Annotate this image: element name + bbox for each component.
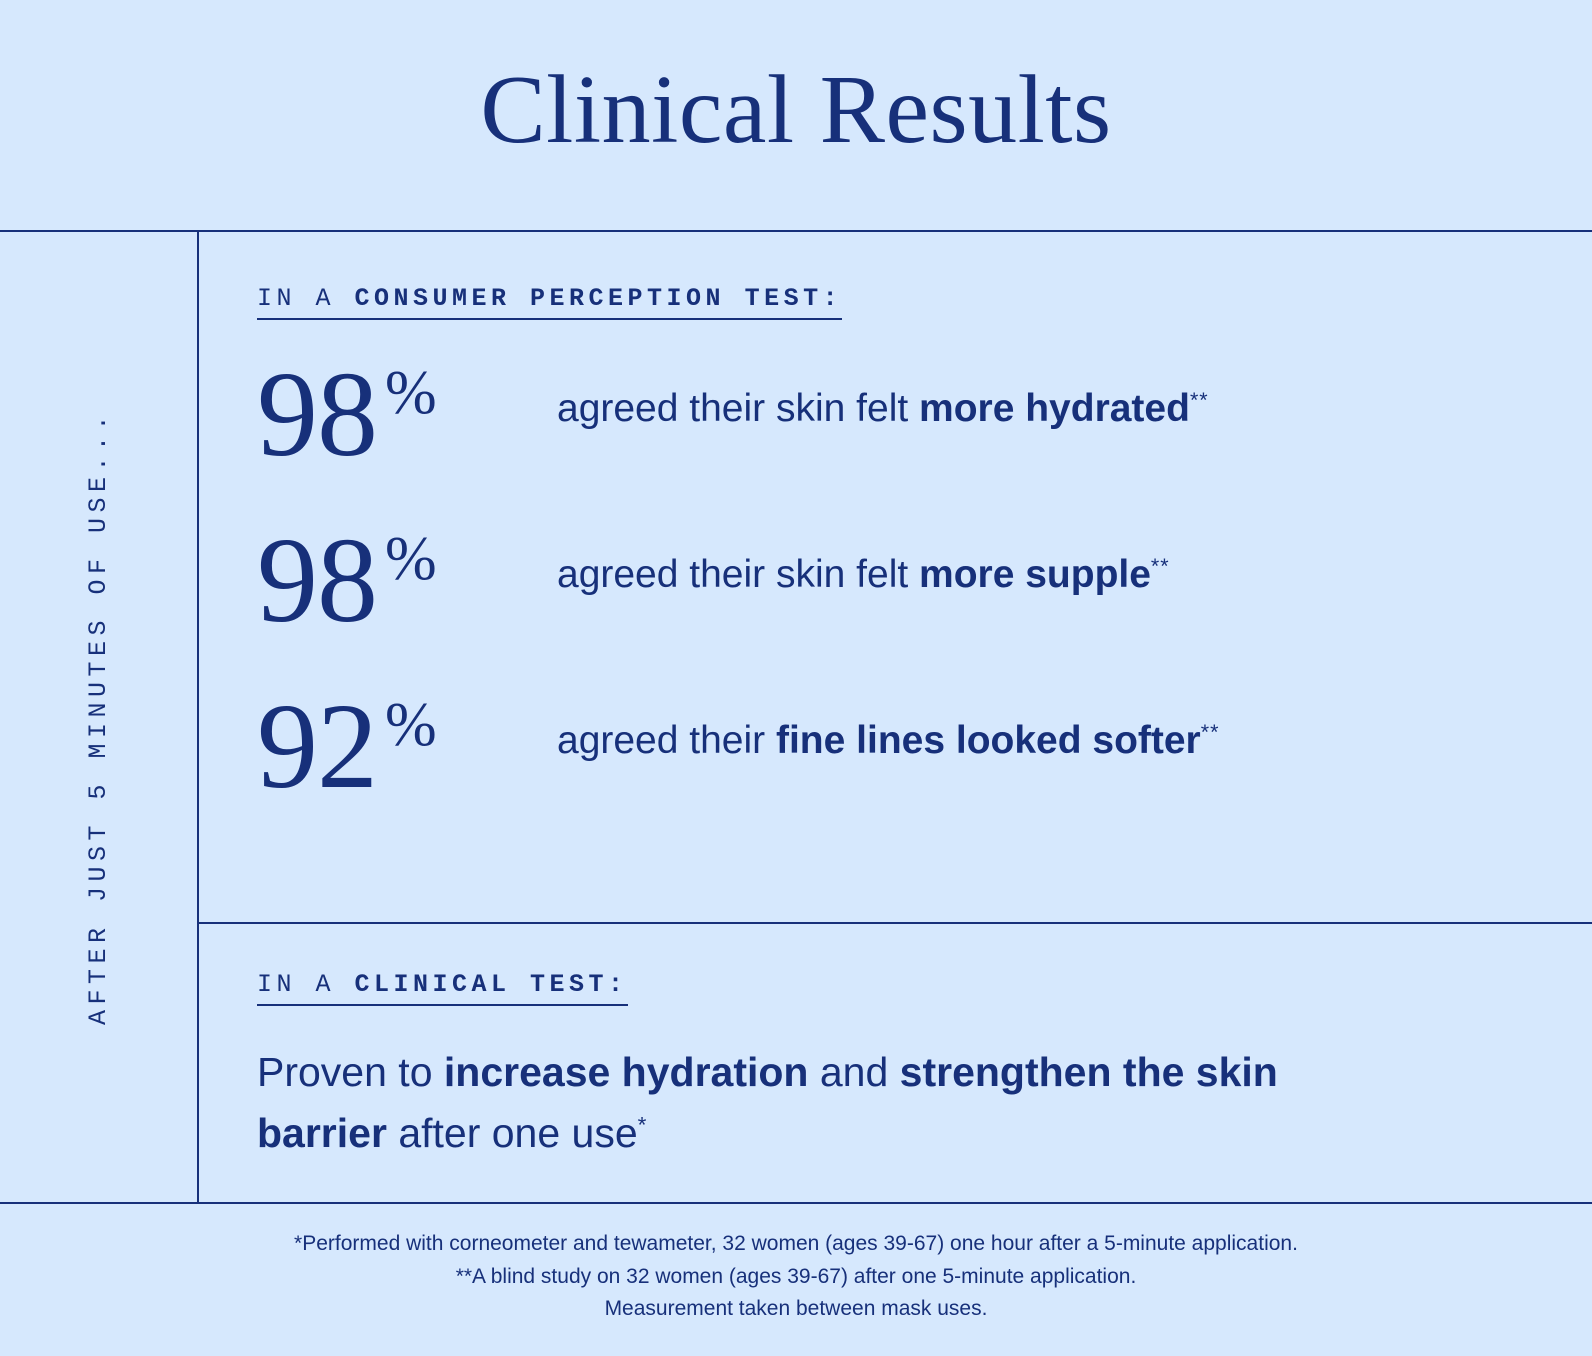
stat-text-strong: more hydrated [919,387,1190,430]
stat-number: 98 [257,520,377,642]
stat-text-strong: fine lines looked softer [776,719,1201,762]
stat-row: 92 % agreed their fine lines looked soft… [257,686,1592,852]
clinical-statement: Proven to increase hydration and strengt… [257,1042,1327,1163]
stat-text-lead: agreed their skin felt [557,387,919,430]
stat-figure: 98 % [257,520,557,642]
stat-figure: 98 % [257,354,557,476]
section-consumer-perception: IN A CONSUMER PERCEPTION TEST: 98 % agre… [199,232,1592,924]
page-title: Clinical Results [480,61,1111,169]
eyebrow-strong-text: CONSUMER PERCEPTION TEST: [355,284,843,313]
eyebrow-lead-text: IN A [257,970,355,999]
statement-part1: Proven to [257,1049,444,1095]
percent-symbol: % [385,694,437,756]
eyebrow-consumer-perception: IN A CONSUMER PERCEPTION TEST: [257,284,842,320]
stat-text: agreed their skin felt more supple** [557,554,1170,597]
stat-text-lead: agreed their skin felt [557,553,919,596]
stat-text: agreed their skin felt more hydrated** [557,388,1209,431]
eyebrow-lead-text: IN A [257,284,355,313]
vertical-rail: AFTER JUST 5 MINUTES OF USE... [0,232,199,1202]
stat-number: 92 [257,686,377,808]
statement-part2: and [808,1049,899,1095]
stat-row: 98 % agreed their skin felt more supple*… [257,520,1592,686]
eyebrow-strong-text: CLINICAL TEST: [355,970,628,999]
results-body: AFTER JUST 5 MINUTES OF USE... IN A CONS… [0,232,1592,1204]
rail-label-wrapper: AFTER JUST 5 MINUTES OF USE... [0,232,197,1202]
footnote-marker: ** [1201,720,1220,744]
stat-number: 98 [257,354,377,476]
stat-text-strong: more supple [919,553,1151,596]
stat-text: agreed their fine lines looked softer** [557,720,1219,763]
footnote-marker: ** [1190,388,1209,412]
footnote-line: *Performed with corneometer and tewamete… [294,1228,1298,1261]
title-band: Clinical Results [0,0,1592,232]
footnote-line: Measurement taken between mask uses. [605,1293,988,1326]
stat-list: 98 % agreed their skin felt more hydrate… [257,354,1592,852]
percent-symbol: % [385,528,437,590]
stat-row: 98 % agreed their skin felt more hydrate… [257,354,1592,520]
footnote-line: **A blind study on 32 women (ages 39-67)… [456,1261,1137,1294]
statement-strong1: increase hydration [444,1049,809,1095]
stat-figure: 92 % [257,686,557,808]
rail-label-text: AFTER JUST 5 MINUTES OF USE... [84,409,113,1024]
eyebrow-clinical-test: IN A CLINICAL TEST: [257,970,628,1006]
section-clinical-test: IN A CLINICAL TEST: Proven to increase h… [199,924,1592,1163]
stat-text-lead: agreed their [557,719,776,762]
statement-part3: after one use [387,1110,638,1156]
percent-symbol: % [385,362,437,424]
results-content: IN A CONSUMER PERCEPTION TEST: 98 % agre… [199,232,1592,1202]
footnote-marker: * [638,1112,648,1137]
footnotes-block: *Performed with corneometer and tewamete… [0,1204,1592,1354]
footnote-marker: ** [1151,554,1170,578]
